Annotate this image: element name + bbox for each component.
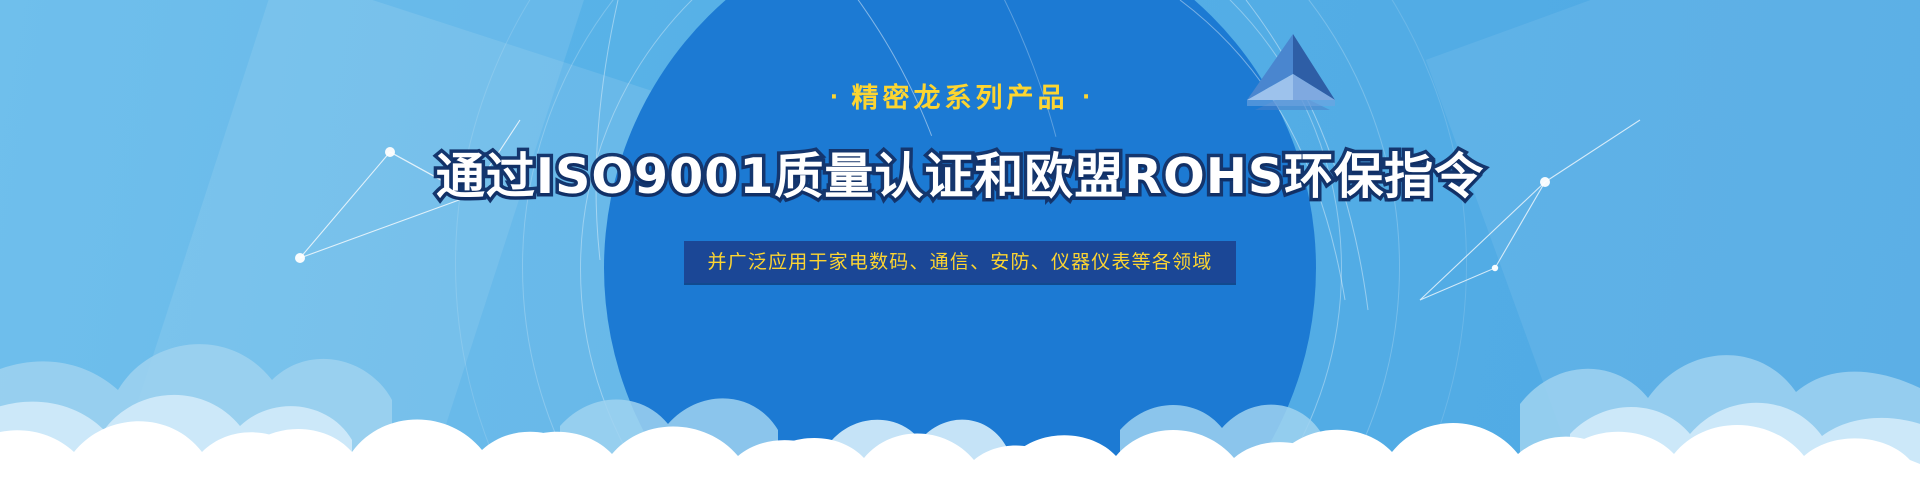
- eyebrow-dot-right: ·: [1082, 85, 1090, 110]
- promo-banner: · 精密龙系列产品 · 通过ISO9001质量认证和欧盟ROHS环保指令 并广泛…: [0, 0, 1920, 480]
- eyebrow-dot-left: ·: [830, 85, 838, 110]
- eyebrow-label: 精密龙系列产品: [852, 83, 1069, 114]
- eyebrow-text: · 精密龙系列产品 ·: [0, 76, 1920, 115]
- headline-container: 通过ISO9001质量认证和欧盟ROHS环保指令: [0, 146, 1920, 208]
- headline-text: 通过ISO9001质量认证和欧盟ROHS环保指令: [436, 146, 1484, 208]
- cloud-decoration: [0, 240, 1920, 480]
